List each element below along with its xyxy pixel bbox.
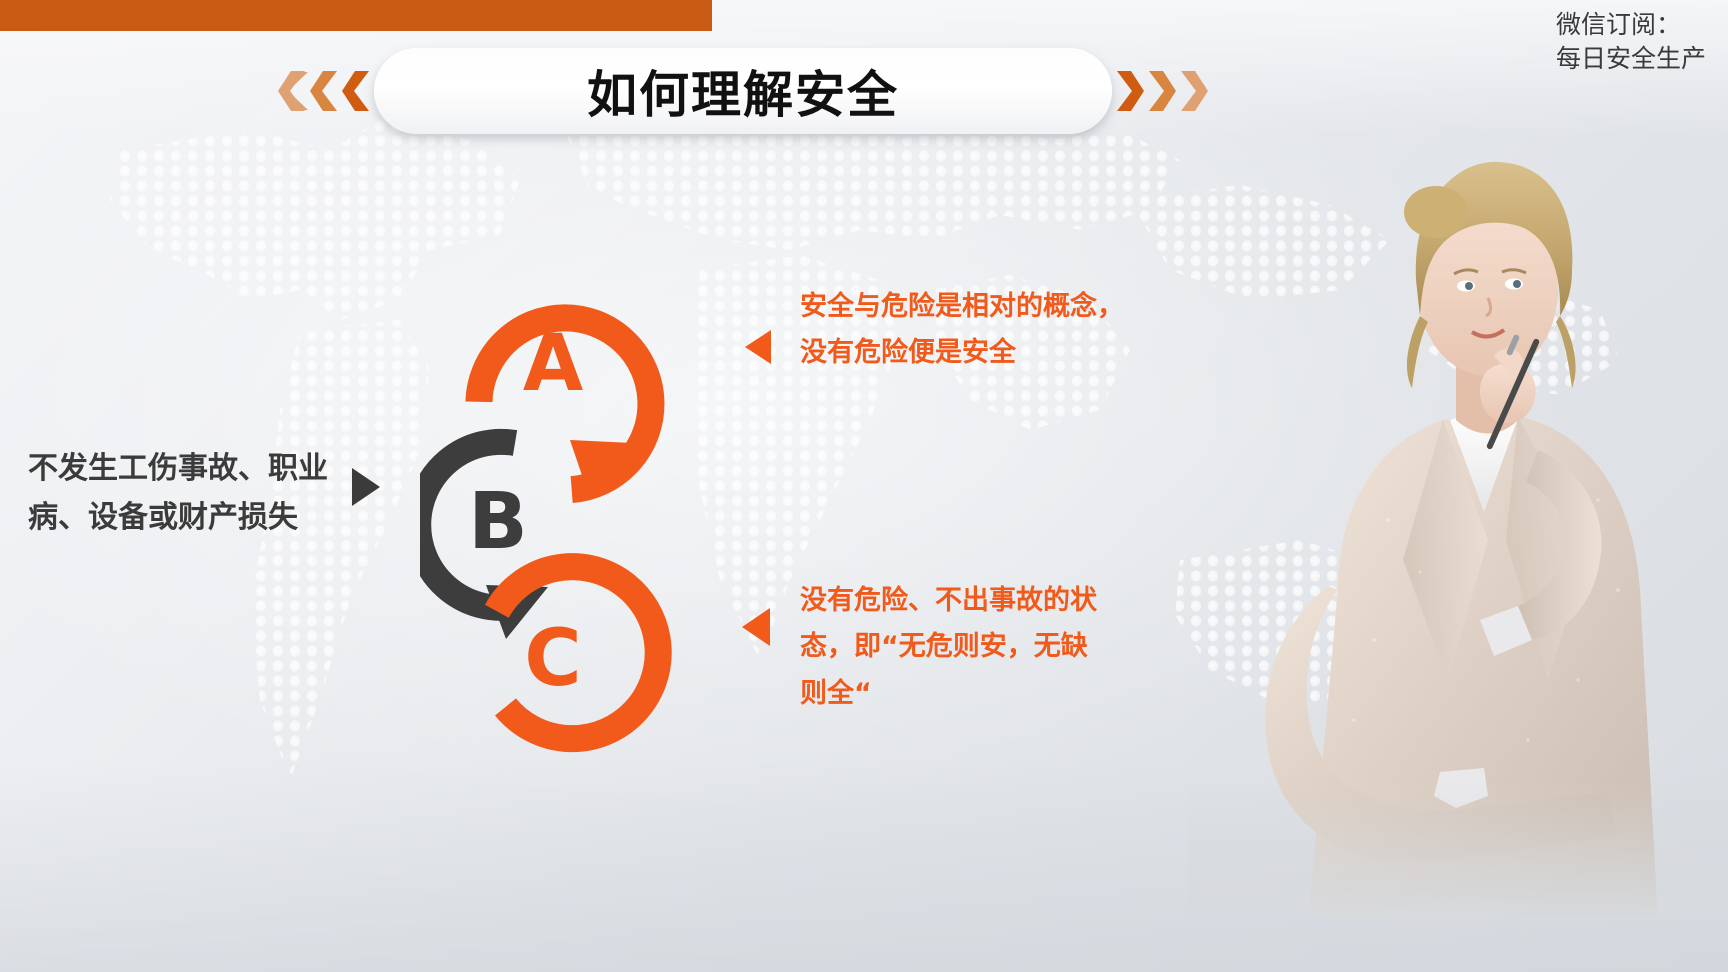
cycle-diagram: A B C xyxy=(420,255,760,755)
callout-left: 不发生工伤事故、职业 病、设备或财产损失 xyxy=(28,445,358,542)
chevron-left-icon xyxy=(278,70,308,112)
chevron-right-icon xyxy=(1114,70,1144,112)
page-title: 如何理解安全 xyxy=(374,48,1112,134)
presentation-slide: 微信订阅： 每日安全生产 如何理解安全 xyxy=(0,0,1728,972)
callout-c-line-3: 则全“ xyxy=(800,671,1150,717)
chevron-right-icon xyxy=(1178,70,1208,112)
cycle-node-b: B xyxy=(420,442,548,639)
title-pill: 如何理解安全 xyxy=(374,48,1112,134)
chevron-left-icon xyxy=(310,70,340,112)
thinking-businesswoman-photo xyxy=(1188,120,1728,920)
callout-left-line-2: 病、设备或财产损失 xyxy=(28,494,358,543)
chevron-left-triple xyxy=(278,70,372,112)
triangle-left-icon-a xyxy=(745,330,771,364)
callout-a: 安全与危险是相对的概念， 没有危险便是安全 xyxy=(800,284,1160,377)
cycle-node-a-label: A xyxy=(523,319,583,409)
callout-c: 没有危险、不出事故的状 态，即“无危则安，无缺 则全“ xyxy=(800,578,1150,717)
chevron-right-triple xyxy=(1114,70,1208,112)
cycle-node-b-label: B xyxy=(468,477,527,567)
subscribe-note: 微信订阅： 每日安全生产 xyxy=(1556,8,1706,76)
subscribe-line-2: 每日安全生产 xyxy=(1556,42,1706,76)
callout-c-line-2: 态，即“无危则安，无缺 xyxy=(800,624,1150,670)
cycle-node-c: C xyxy=(494,561,664,744)
callout-a-line-1: 安全与危险是相对的概念， xyxy=(800,284,1160,330)
cycle-node-c-label: C xyxy=(524,614,581,704)
callout-a-line-2: 没有危险便是安全 xyxy=(800,330,1160,376)
top-accent-bar xyxy=(0,0,712,31)
slide-title-block: 如何理解安全 xyxy=(278,48,1208,134)
callout-c-line-1: 没有危险、不出事故的状 xyxy=(800,578,1150,624)
chevron-right-icon xyxy=(1146,70,1176,112)
callout-left-line-1: 不发生工伤事故、职业 xyxy=(28,445,358,494)
triangle-left-icon-c xyxy=(742,608,770,646)
cycle-node-a: A xyxy=(468,307,662,499)
chevron-left-icon xyxy=(342,70,372,112)
subscribe-line-1: 微信订阅： xyxy=(1556,8,1706,42)
